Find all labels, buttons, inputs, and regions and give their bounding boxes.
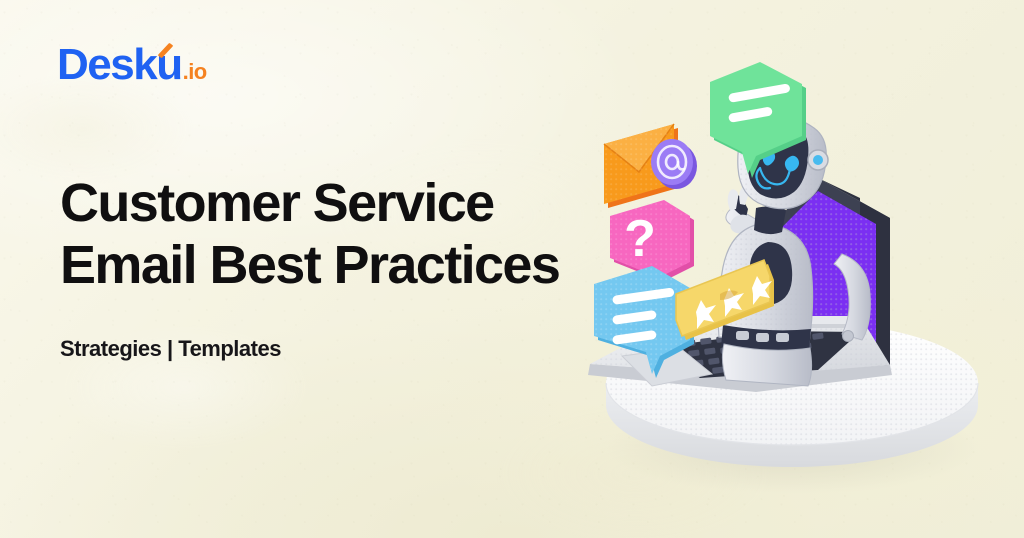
page-subtitle: Strategies | Templates (60, 336, 281, 362)
headline-line-1: Customer Service (60, 172, 559, 234)
question-mark-glyph: ? (624, 210, 656, 268)
page-title: Customer Service Email Best Practices (60, 172, 559, 296)
desku-logo[interactable]: Desku .io (57, 40, 207, 90)
headline-line-2: Email Best Practices (60, 234, 559, 296)
robot-neck (754, 206, 786, 234)
hero-illustration: ? (560, 48, 1024, 538)
logo-wordmark: Desku (57, 40, 182, 90)
logo-tld: .io (183, 59, 207, 85)
hero-banner: Desku .io Customer Service Email Best Pr… (0, 0, 1024, 538)
